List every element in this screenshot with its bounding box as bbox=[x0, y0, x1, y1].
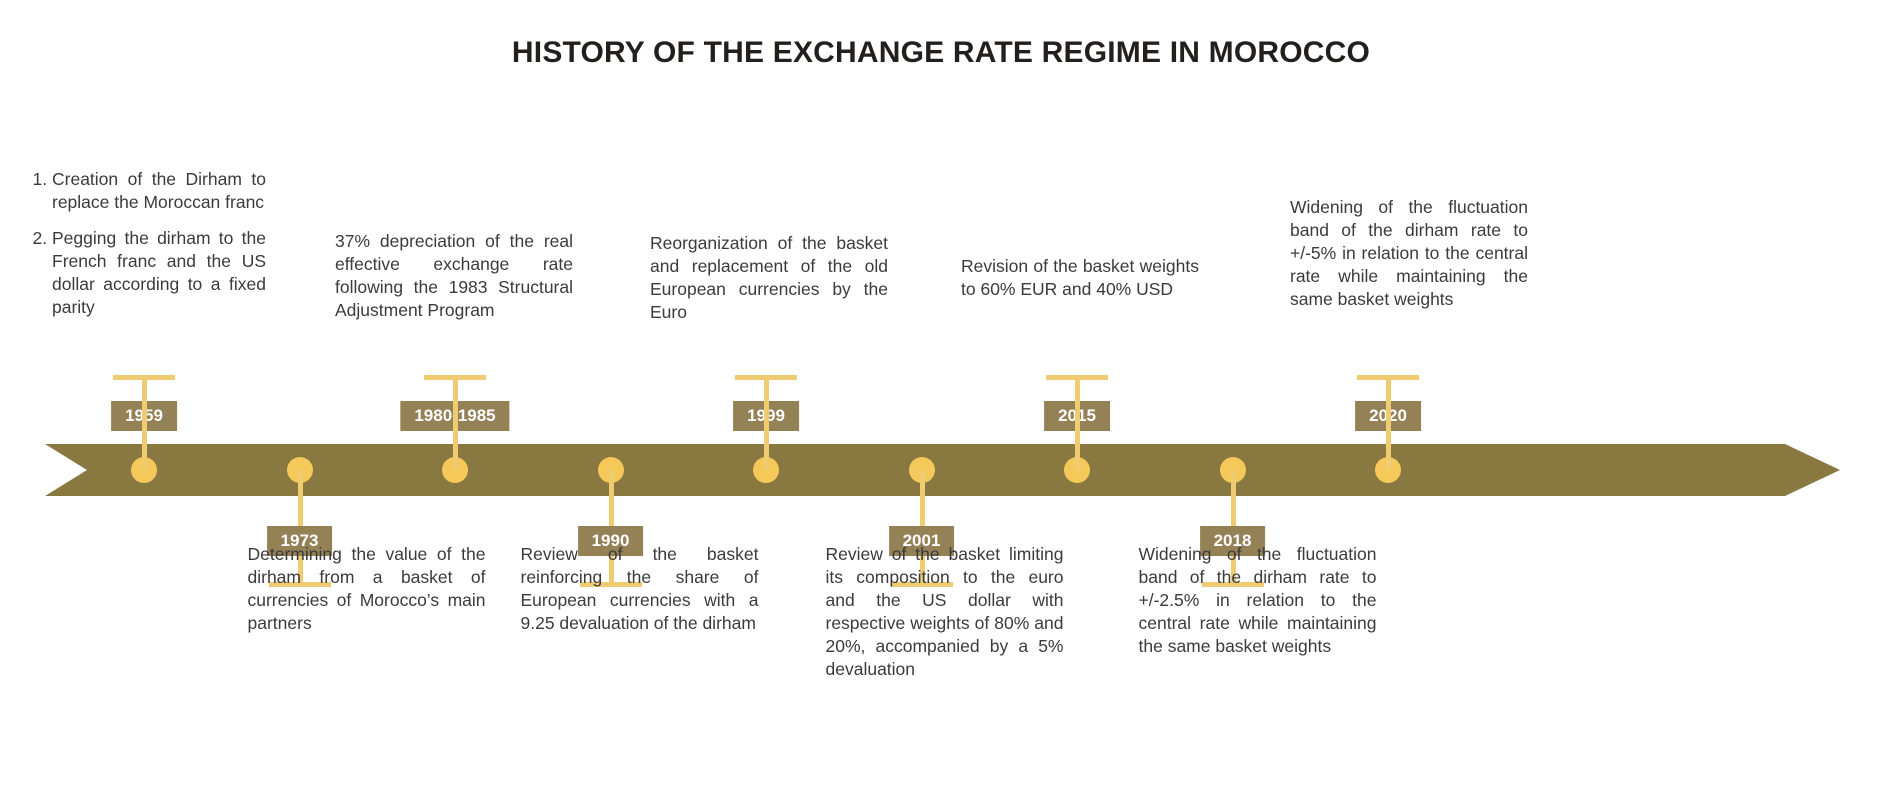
event-text-1990: Review of the basket reinforcing the sha… bbox=[521, 543, 759, 635]
event-paragraph: Revision of the basket weights to 60% EU… bbox=[961, 255, 1199, 301]
connector-cap-1999 bbox=[735, 375, 797, 380]
event-paragraph: Review of the basket reinforcing the sha… bbox=[521, 543, 759, 635]
event-text-1959: Creation of the Dirham to replace the Mo… bbox=[28, 168, 266, 319]
event-text-1999: Reorganization of the basket and replace… bbox=[650, 232, 888, 324]
event-list: Creation of the Dirham to replace the Mo… bbox=[28, 168, 266, 319]
event-paragraph: Widening of the fluctuation band of the … bbox=[1139, 543, 1377, 658]
event-list-item: Pegging the dirham to the French franc a… bbox=[52, 227, 266, 319]
page-title: HISTORY OF THE EXCHANGE RATE REGIME IN M… bbox=[0, 36, 1882, 70]
connector-cap-1959 bbox=[113, 375, 175, 380]
event-text-1973: Determining the value of the dirham from… bbox=[248, 543, 486, 635]
event-paragraph: Review of the basket limiting its compos… bbox=[826, 543, 1064, 681]
event-text-2018: Widening of the fluctuation band of the … bbox=[1139, 543, 1377, 658]
connector-cap-2015 bbox=[1046, 375, 1108, 380]
connector-stem-1973 bbox=[298, 470, 303, 526]
connector-stem-1959 bbox=[142, 401, 147, 470]
event-paragraph: Reorganization of the basket and replace… bbox=[650, 232, 888, 324]
event-paragraph: 37% depreciation of the real effective e… bbox=[335, 230, 573, 322]
timeline-arrow-shape bbox=[45, 444, 1840, 496]
connector-stem-2001 bbox=[920, 470, 925, 526]
event-text-2020: Widening of the fluctuation band of the … bbox=[1290, 196, 1528, 311]
connector-stem-2020 bbox=[1386, 401, 1391, 470]
event-text-2015: Revision of the basket weights to 60% EU… bbox=[961, 255, 1199, 301]
connector-stem-2015 bbox=[1075, 401, 1080, 470]
event-list-item: Creation of the Dirham to replace the Mo… bbox=[52, 168, 266, 214]
timeline-arrow bbox=[45, 444, 1840, 496]
connector-stem-2018 bbox=[1231, 470, 1236, 526]
timeline-infographic: HISTORY OF THE EXCHANGE RATE REGIME IN M… bbox=[0, 0, 1882, 802]
event-text-2001: Review of the basket limiting its compos… bbox=[826, 543, 1064, 681]
connector-stem-1999 bbox=[764, 401, 769, 470]
connector-stem-1990 bbox=[609, 470, 614, 526]
connector-stem-1980-1985 bbox=[453, 401, 458, 470]
connector-cap-1980-1985 bbox=[424, 375, 486, 380]
event-paragraph: Determining the value of the dirham from… bbox=[248, 543, 486, 635]
event-text-1980-1985: 37% depreciation of the real effective e… bbox=[335, 230, 573, 322]
connector-cap-2020 bbox=[1357, 375, 1419, 380]
event-paragraph: Widening of the fluctuation band of the … bbox=[1290, 196, 1528, 311]
